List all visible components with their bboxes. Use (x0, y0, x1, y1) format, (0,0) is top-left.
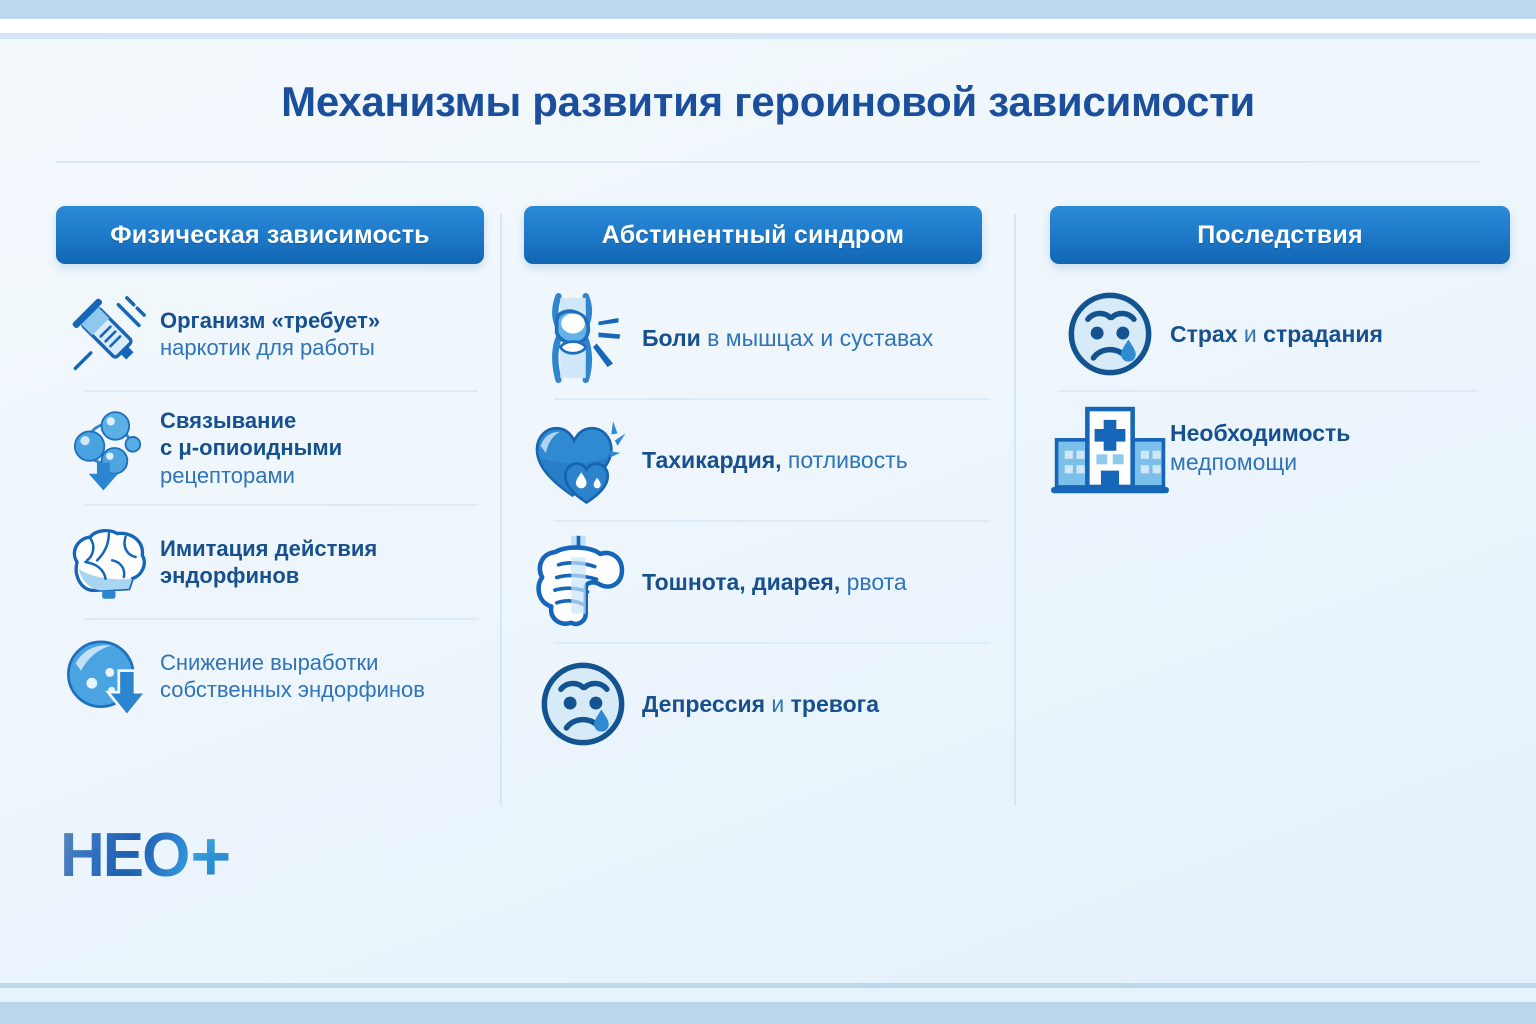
label-segment: и (1244, 321, 1263, 347)
label-segment: Тахикардия, (642, 447, 788, 473)
column-2: Последствия Страх и страдания (1016, 206, 1536, 816)
label-segment: Страх (1170, 321, 1244, 347)
label-segment: Депрессия (642, 691, 771, 717)
top-band-line (0, 33, 1536, 39)
label-segment: Боли (642, 325, 707, 351)
column-header-0[interactable]: Физическая зависимость (56, 206, 484, 264)
sphere-down-arrow-icon (56, 631, 160, 721)
list-item-label: Связываниес μ-опиоиднымирецепторами (160, 407, 342, 489)
list-item[interactable]: Снижение выработкисобственных эндорфинов (56, 620, 484, 732)
label-segment: медпомощи (1170, 449, 1297, 475)
label-segment: тревога (791, 691, 879, 717)
label-segment: с μ-опиоидными (160, 435, 342, 460)
column-header-label: Физическая зависимость (110, 221, 429, 250)
list-item-label: Тошнота, диарея, рвота (642, 568, 907, 597)
column-items: Организм «требует»наркотик для работы Св… (56, 278, 484, 732)
list-item[interactable]: Необходимостьмедпомощи (1050, 392, 1486, 504)
label-segment: собственных эндорфинов (160, 677, 425, 702)
bottom-band (0, 1002, 1536, 1024)
column-header-1[interactable]: Абстинентный синдром (524, 206, 982, 264)
list-item[interactable]: Депрессия и тревога (524, 644, 998, 764)
label-segment: страдания (1263, 321, 1383, 347)
column-header-label: Абстинентный синдром (602, 221, 904, 250)
list-item-label: Необходимостьмедпомощи (1170, 419, 1350, 476)
label-segment: рвота (847, 569, 907, 595)
label-segment: Снижение выработки (160, 650, 378, 675)
list-item-label: Тахикардия, потливость (642, 446, 908, 475)
list-item[interactable]: Связываниес μ-опиоиднымирецепторами (56, 392, 484, 504)
title-divider (56, 161, 1480, 163)
list-item[interactable]: Тахикардия, потливость (524, 400, 998, 520)
syringe-icon (56, 291, 160, 377)
list-item-label: Боли в мышцах и суставах (642, 324, 933, 353)
list-item[interactable]: Имитация действияэндорфинов (56, 506, 484, 618)
columns-container: Физическая зависимость Организм «требует… (0, 206, 1536, 816)
label-segment: Необходимость (1170, 420, 1350, 446)
label-segment: в мышцах и суставах (707, 325, 933, 351)
list-item-label: Страх и страдания (1170, 320, 1383, 349)
list-item[interactable]: Организм «требует»наркотик для работы (56, 278, 484, 390)
molecule-receptor-icon (56, 402, 160, 494)
page-title: Механизмы развития героиновой зависимост… (0, 78, 1536, 126)
brain-icon (56, 523, 160, 601)
label-segment: потливость (788, 447, 908, 473)
infographic-page: Механизмы развития героиновой зависимост… (0, 0, 1536, 1024)
column-header-2[interactable]: Последствия (1050, 206, 1510, 264)
label-segment: наркотик для работы (160, 335, 375, 360)
list-item[interactable]: Страх и страдания (1050, 278, 1486, 390)
sad-face-tear-icon (524, 658, 642, 750)
label-segment: Связывание (160, 408, 296, 433)
column-items: Боли в мышцах и суставах Тахикардия, пот… (524, 278, 998, 764)
column-0: Физическая зависимость Организм «требует… (0, 206, 502, 816)
knee-joint-pain-icon (524, 290, 642, 386)
label-segment: и (771, 691, 790, 717)
list-item-label: Депрессия и тревога (642, 690, 879, 719)
label-segment: Имитация действия (160, 536, 377, 561)
list-item-label: Организм «требует»наркотик для работы (160, 307, 380, 362)
sad-face-tear-icon (1050, 288, 1170, 380)
label-segment: Организм «требует» (160, 308, 380, 333)
list-item-label: Снижение выработкисобственных эндорфинов (160, 649, 425, 704)
intestines-icon (524, 534, 642, 630)
column-items: Страх и страдания Необ (1050, 278, 1486, 504)
column-1: Абстинентный синдром Боли в мышцах и сус… (502, 206, 1016, 816)
list-item-label: Имитация действияэндорфинов (160, 535, 377, 590)
top-band-gap (0, 19, 1536, 33)
hospital-icon (1050, 400, 1170, 496)
list-item[interactable]: Тошнота, диарея, рвота (524, 522, 998, 642)
logo-text: НЕО (60, 825, 188, 887)
logo: НЕО + (60, 820, 231, 892)
label-segment: Тошнота, диарея, (642, 569, 847, 595)
list-item[interactable]: Боли в мышцах и суставах (524, 278, 998, 398)
bottom-band-gap (0, 988, 1536, 1002)
label-segment: эндорфинов (160, 563, 299, 588)
top-band (0, 0, 1536, 19)
label-segment: рецепторами (160, 463, 295, 488)
logo-plus-icon: + (190, 821, 231, 891)
column-header-label: Последствия (1197, 221, 1362, 250)
heart-sweat-icon (524, 414, 642, 506)
